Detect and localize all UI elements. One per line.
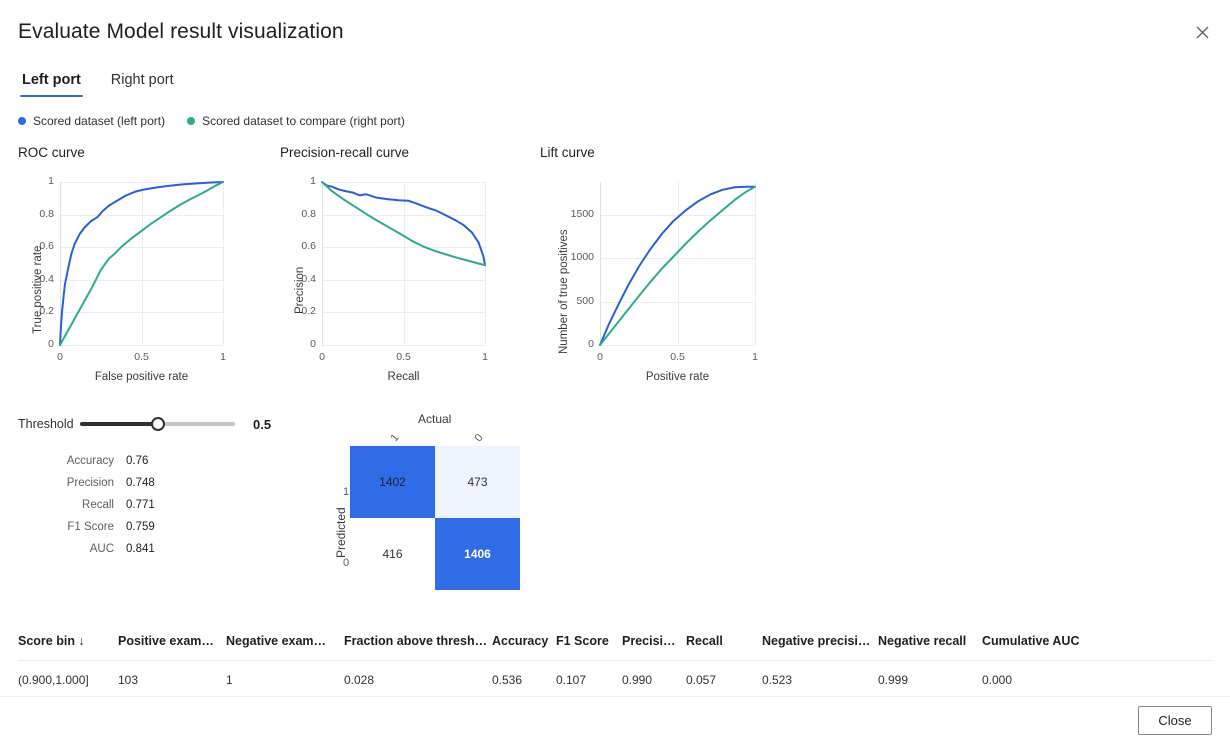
pr-body-ytick: 1 xyxy=(310,175,316,187)
pr-body-xtick: 0 xyxy=(312,351,332,363)
legend-item-right-port[interactable]: Scored dataset to compare (right port) xyxy=(187,114,405,128)
metric-precision: Precision 0.748 xyxy=(18,472,168,494)
table-cell: 0.028 xyxy=(344,673,492,687)
table-header-row: Score bin ↓Positive exam…Negative exam…F… xyxy=(18,622,1212,661)
table-cell: 0.990 xyxy=(622,673,686,687)
pr-body-ytick: 0.6 xyxy=(301,240,316,252)
metric-precision-label: Precision xyxy=(18,477,126,489)
pr-body-xlabel: Recall xyxy=(322,371,485,383)
metric-recall: Recall 0.771 xyxy=(18,494,168,516)
chart-roc-curve: ROC curve 00.20.40.60.8100.51True positi… xyxy=(18,145,278,399)
confusion-matrix-col-tick-0: 0 xyxy=(472,432,485,444)
threshold-value: 0.5 xyxy=(253,417,271,432)
threshold-slider-fill xyxy=(80,422,158,426)
table-cell: 0.999 xyxy=(878,673,982,687)
table-header-cell[interactable]: Negative exam… xyxy=(226,634,344,648)
lift-body-ytick: 1500 xyxy=(571,208,594,220)
table-cell: 0.536 xyxy=(492,673,556,687)
lift-body-xtick: 0.5 xyxy=(668,351,688,363)
roc-body-ytick: 0.8 xyxy=(39,208,54,220)
chart-roc-title: ROC curve xyxy=(18,145,278,160)
table-cell: 0.057 xyxy=(686,673,762,687)
threshold-label: Threshold xyxy=(18,417,74,431)
threshold-slider[interactable] xyxy=(80,414,235,434)
metric-recall-value: 0.771 xyxy=(126,499,168,511)
tab-left-port-label: Left port xyxy=(22,72,81,88)
roc-body-ylabel: True positive rate xyxy=(32,246,44,334)
page-title: Evaluate Model result visualization xyxy=(18,20,344,44)
confusion-matrix: Actual Predicted 1 0 1 0 1402 473 416 14… xyxy=(330,410,560,605)
roc-body-gridline-y xyxy=(60,345,223,346)
legend-dot-green xyxy=(187,117,195,125)
legend-label-right-port: Scored dataset to compare (right port) xyxy=(202,114,405,128)
table-header-cell[interactable]: Score bin ↓ xyxy=(18,634,118,648)
legend-label-left-port: Scored dataset (left port) xyxy=(33,114,165,128)
confusion-matrix-cell-pred0-actual1[interactable]: 416 xyxy=(350,518,435,590)
roc-body-series-0 xyxy=(60,182,223,345)
tab-right-port[interactable]: Right port xyxy=(109,70,176,97)
table-header-cell[interactable]: Negative recall xyxy=(878,634,982,648)
table-body: (0.900,1.000]10310.0280.5360.1070.9900.0… xyxy=(18,661,1212,699)
lift-body-xtick: 0 xyxy=(590,351,610,363)
legend-item-left-port[interactable]: Scored dataset (left port) xyxy=(18,114,165,128)
metric-f1-score-label: F1 Score xyxy=(18,521,126,533)
table-header-cell[interactable]: F1 Score xyxy=(556,634,622,648)
roc-body-series-1 xyxy=(60,182,223,345)
table-cell: 1 xyxy=(226,673,344,687)
metric-f1-score: F1 Score 0.759 xyxy=(18,516,168,538)
legend-dot-blue xyxy=(18,117,26,125)
roc-body-xtick: 0 xyxy=(50,351,70,363)
threshold-control: Threshold 0.5 xyxy=(18,414,271,434)
pr-body-gridline-y xyxy=(322,345,485,346)
roc-body-ytick: 1 xyxy=(48,175,54,187)
metric-f1-score-value: 0.759 xyxy=(126,521,168,533)
table-cell: 103 xyxy=(118,673,226,687)
roc-body-xtick: 1 xyxy=(213,351,233,363)
score-bin-table: Score bin ↓Positive exam…Negative exam…F… xyxy=(18,622,1212,699)
close-button[interactable]: Close xyxy=(1138,706,1212,735)
lift-body-series-1 xyxy=(600,187,755,345)
tab-left-port[interactable]: Left port xyxy=(20,70,83,97)
pr-body-ytick: 0 xyxy=(310,338,316,350)
metric-accuracy-value: 0.76 xyxy=(126,455,168,467)
tab-bar: Left port Right port xyxy=(20,70,176,97)
lift-body-gridline-x xyxy=(755,182,756,345)
table-header-cell[interactable]: Precisi… xyxy=(622,634,686,648)
metrics-list: Accuracy 0.76 Precision 0.748 Recall 0.7… xyxy=(18,450,168,560)
lift-body-xtick: 1 xyxy=(745,351,765,363)
pr-body-plot-area: 00.20.40.60.8100.51 xyxy=(322,182,485,345)
lift-body-gridline-y xyxy=(600,345,755,346)
roc-body-xtick: 0.5 xyxy=(132,351,152,363)
confusion-matrix-row-axis-label: Predicted xyxy=(334,507,348,558)
roc-body-gridline-x xyxy=(223,182,224,345)
table-header-cell[interactable]: Recall xyxy=(686,634,762,648)
lift-body-ytick: 1000 xyxy=(571,251,594,263)
metric-accuracy-label: Accuracy xyxy=(18,455,126,467)
chart-legend: Scored dataset (left port) Scored datase… xyxy=(18,114,427,128)
table-header-cell[interactable]: Negative precisi… xyxy=(762,634,878,648)
chart-lift-curve: Lift curve 05001000150000.51Number of tr… xyxy=(540,145,815,399)
roc-body-plot-area: 00.20.40.60.8100.51 xyxy=(60,182,223,345)
metric-accuracy: Accuracy 0.76 xyxy=(18,450,168,472)
metric-auc: AUC 0.841 xyxy=(18,538,168,560)
confusion-matrix-row-tick-1: 1 xyxy=(343,486,349,498)
lift-body-series-0 xyxy=(600,187,755,345)
metric-auc-value: 0.841 xyxy=(126,543,168,555)
lift-body-ytick: 0 xyxy=(588,338,594,350)
lift-body-xlabel: Positive rate xyxy=(600,371,755,383)
chart-pr-title: Precision-recall curve xyxy=(280,145,540,160)
metric-auc-label: AUC xyxy=(18,543,126,555)
confusion-matrix-cell-pred1-actual0[interactable]: 473 xyxy=(435,446,520,518)
table-row[interactable]: (0.900,1.000]10310.0280.5360.1070.9900.0… xyxy=(18,661,1212,699)
lift-body-plot-area: 05001000150000.51 xyxy=(600,182,755,345)
table-header-cell[interactable]: Fraction above thresh… xyxy=(344,634,492,648)
confusion-matrix-cell-pred1-actual1[interactable]: 1402 xyxy=(350,446,435,518)
table-header-cell[interactable]: Accuracy xyxy=(492,634,556,648)
chart-precision-recall-curve: Precision-recall curve 00.20.40.60.8100.… xyxy=(280,145,540,399)
lift-body-ytick: 500 xyxy=(576,295,594,307)
pr-body-xtick: 1 xyxy=(475,351,495,363)
pr-body-ylabel: Precision xyxy=(294,267,306,314)
table-cell: 0.000 xyxy=(982,673,1102,687)
pr-body-series-0 xyxy=(322,182,485,265)
table-cell: 0.107 xyxy=(556,673,622,687)
table-cell: (0.900,1.000] xyxy=(18,673,118,687)
dialog-footer: Close xyxy=(0,696,1230,743)
tab-right-port-label: Right port xyxy=(111,72,174,88)
charts-row: ROC curve 00.20.40.60.8100.51True positi… xyxy=(0,145,1230,390)
lift-body-series-svg xyxy=(600,182,755,345)
pr-body-series-svg xyxy=(322,182,485,345)
roc-body-series-svg xyxy=(60,182,223,345)
threshold-slider-thumb[interactable] xyxy=(151,417,165,431)
pr-body-xtick: 0.5 xyxy=(394,351,414,363)
table-header-cell[interactable]: Cumulative AUC xyxy=(982,634,1102,648)
lift-body-ylabel: Number of true positives xyxy=(558,229,570,354)
pr-body-ytick: 0.8 xyxy=(301,208,316,220)
roc-body-ytick: 0 xyxy=(48,338,54,350)
table-header-cell[interactable]: Positive exam… xyxy=(118,634,226,648)
confusion-matrix-col-tick-1: 1 xyxy=(388,432,401,444)
metric-precision-value: 0.748 xyxy=(126,477,168,489)
chart-lift-title: Lift curve xyxy=(540,145,815,160)
close-icon[interactable] xyxy=(1184,14,1220,50)
confusion-matrix-column-axis-label: Actual xyxy=(418,412,451,426)
roc-body-xlabel: False positive rate xyxy=(60,371,223,383)
metric-recall-label: Recall xyxy=(18,499,126,511)
confusion-matrix-cell-pred0-actual0[interactable]: 1406 xyxy=(435,518,520,590)
confusion-matrix-row-tick-0: 0 xyxy=(343,557,349,569)
table-cell: 0.523 xyxy=(762,673,878,687)
